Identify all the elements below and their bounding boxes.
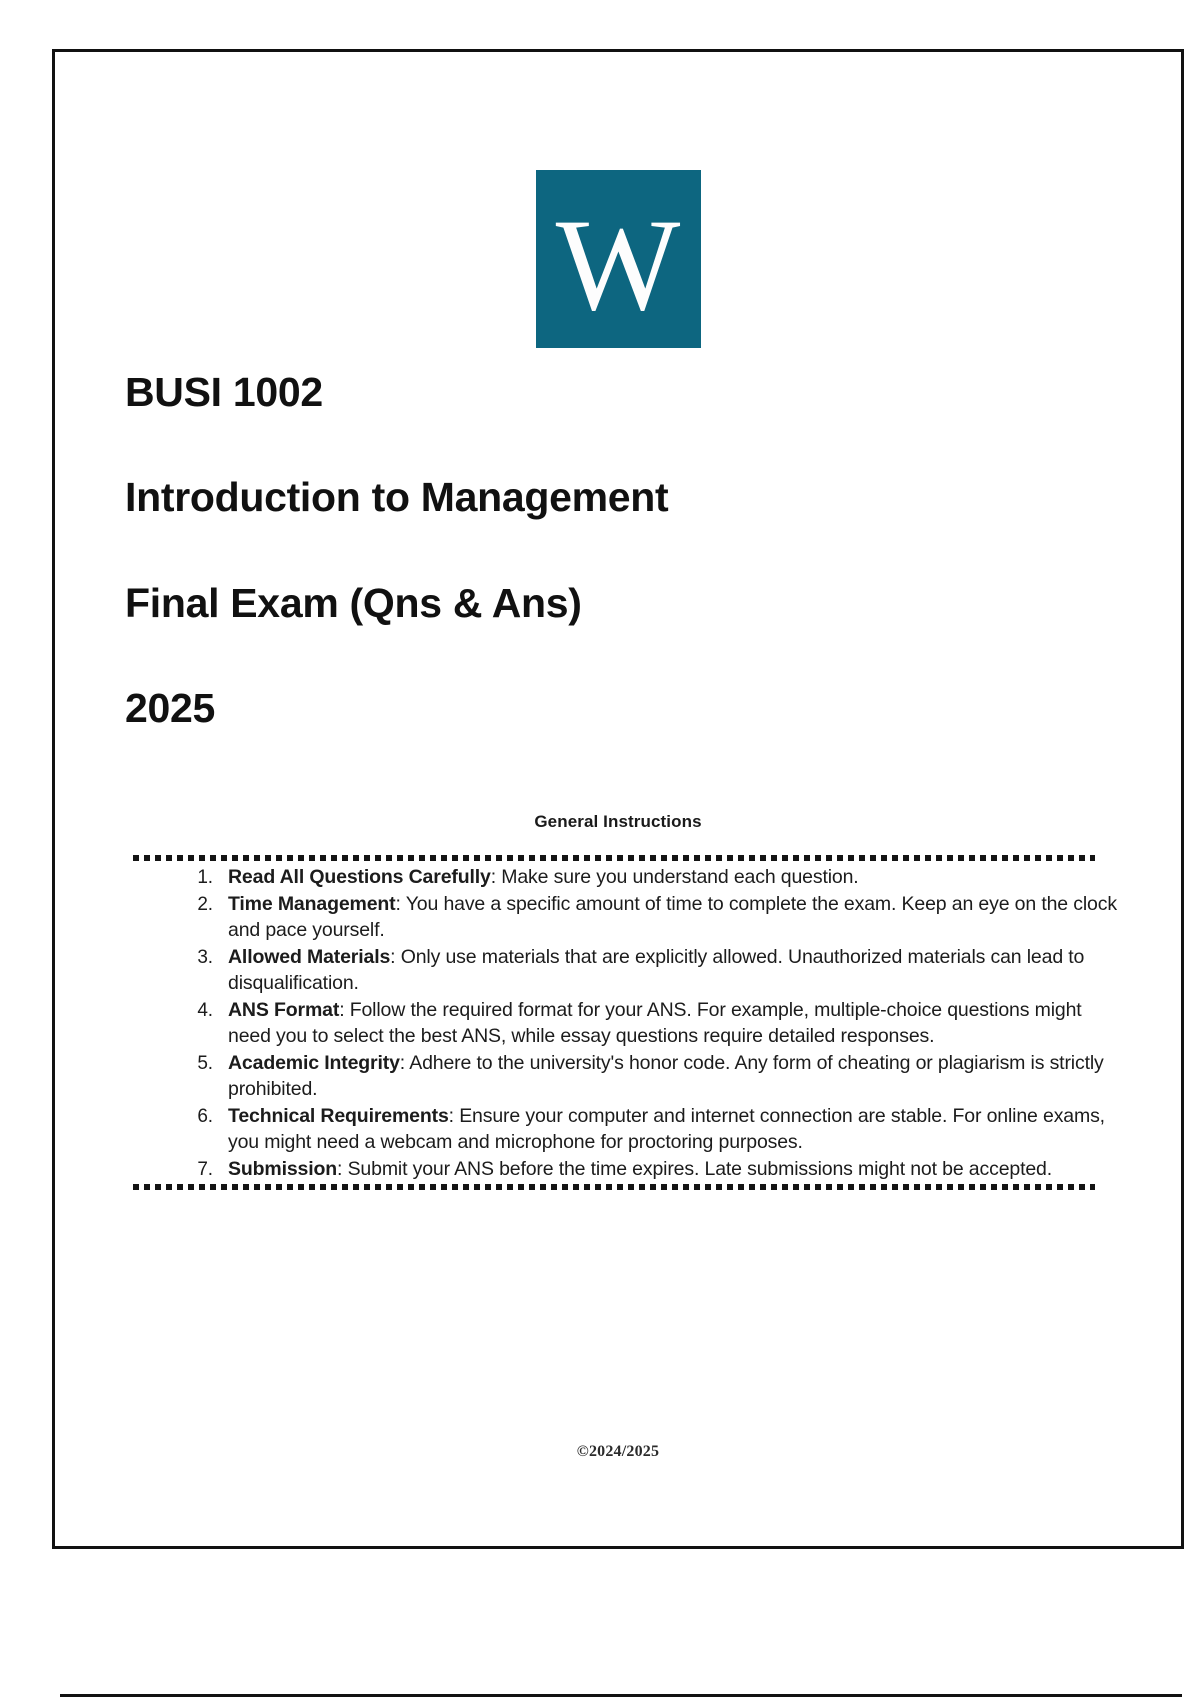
logo-letter: W	[556, 199, 681, 331]
instruction-text: : Follow the required format for your AN…	[228, 999, 1082, 1048]
dotted-divider-top	[133, 855, 1095, 861]
course-code: BUSI 1002	[125, 370, 1115, 414]
logo-container: W	[55, 170, 1181, 348]
instruction-term: Submission	[228, 1158, 337, 1180]
instruction-item: Allowed Materials: Only use materials th…	[218, 944, 1121, 997]
next-page-edge	[60, 1694, 1182, 1700]
dotted-divider-bottom	[133, 1184, 1095, 1190]
exam-title: Final Exam (Qns & Ans)	[125, 581, 1115, 625]
exam-year: 2025	[125, 686, 1115, 730]
page-content: W BUSI 1002 Introduction to Management F…	[55, 52, 1181, 1546]
instruction-term: Read All Questions Carefully	[228, 866, 491, 888]
instruction-item: ANS Format: Follow the required format f…	[218, 997, 1121, 1050]
instruction-term: ANS Format	[228, 999, 339, 1021]
instruction-item: Time Management: You have a specific amo…	[218, 891, 1121, 944]
title-block: BUSI 1002 Introduction to Management Fin…	[125, 370, 1115, 730]
course-title: Introduction to Management	[125, 475, 1115, 519]
instruction-term: Allowed Materials	[228, 946, 390, 968]
instruction-item: Submission: Submit your ANS before the t…	[218, 1156, 1121, 1183]
instructions-list: Read All Questions Carefully: Make sure …	[55, 864, 1181, 1182]
instruction-item: Technical Requirements: Ensure your comp…	[218, 1103, 1121, 1156]
document-page: W BUSI 1002 Introduction to Management F…	[52, 49, 1184, 1549]
copyright-notice: ©2024/2025	[55, 1443, 1181, 1461]
instruction-item: Read All Questions Carefully: Make sure …	[218, 864, 1121, 891]
general-instructions-heading: General Instructions	[55, 812, 1181, 832]
instruction-term: Academic Integrity	[228, 1052, 400, 1074]
instruction-text: : Submit your ANS before the time expire…	[337, 1158, 1052, 1180]
university-w-logo: W	[536, 170, 701, 348]
instruction-item: Academic Integrity: Adhere to the univer…	[218, 1050, 1121, 1103]
instruction-term: Time Management	[228, 893, 396, 915]
instruction-term: Technical Requirements	[228, 1105, 449, 1127]
instructions-block: Read All Questions Carefully: Make sure …	[55, 855, 1181, 1190]
instruction-text: : Make sure you understand each question…	[491, 866, 859, 888]
